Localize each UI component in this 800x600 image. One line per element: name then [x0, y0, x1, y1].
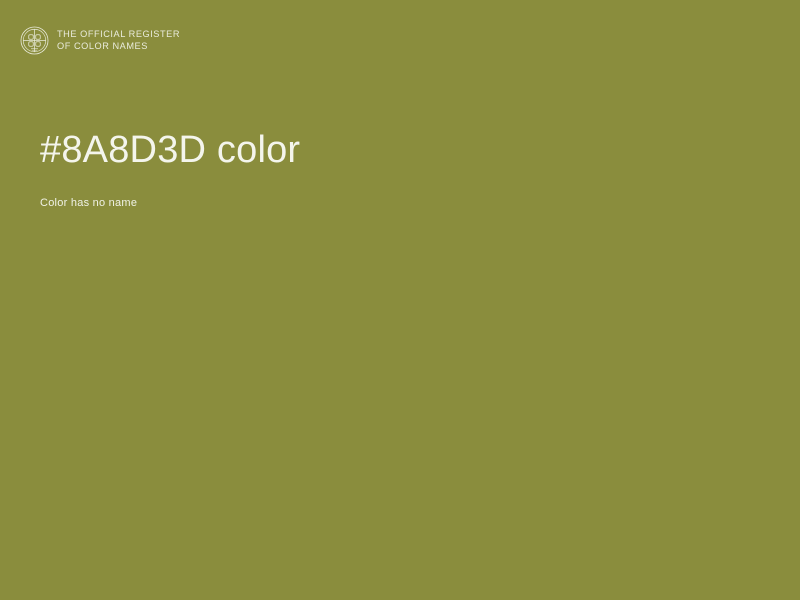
- brand-line-1: THE OFFICIAL REGISTER: [57, 29, 180, 40]
- brand-logo[interactable]: THE OFFICIAL REGISTER OF COLOR NAMES: [20, 26, 180, 55]
- page-title: #8A8D3D color: [40, 128, 740, 172]
- color-page: THE OFFICIAL REGISTER OF COLOR NAMES #8A…: [0, 0, 800, 600]
- color-info: #8A8D3D color Color has no name: [40, 128, 740, 210]
- brand-line-2: OF COLOR NAMES: [57, 41, 180, 52]
- brand-wordmark: THE OFFICIAL REGISTER OF COLOR NAMES: [57, 29, 180, 52]
- register-seal-icon: [20, 26, 49, 55]
- color-name-status: Color has no name: [40, 172, 740, 210]
